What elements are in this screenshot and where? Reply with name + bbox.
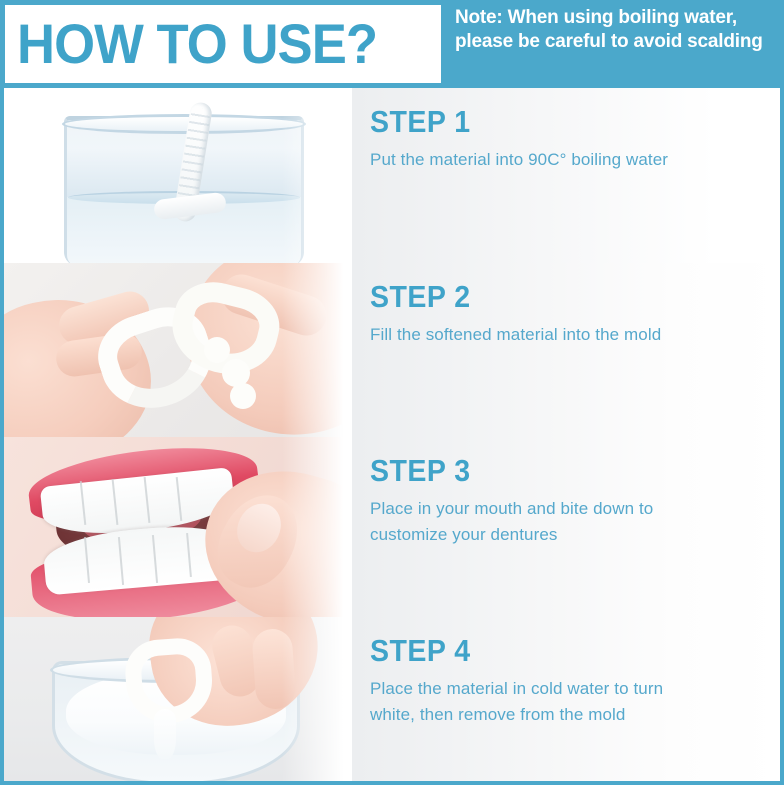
step-row-3: STEP 3 Place in your mouth and bite down… xyxy=(4,437,780,617)
step-row-2: STEP 2 Fill the softened material into t… xyxy=(4,263,780,437)
photo-fade-4 xyxy=(282,617,352,781)
step-1-photo xyxy=(4,88,352,263)
steps-frame: STEP 1 Put the material into 90C° boilin… xyxy=(0,88,784,785)
step-1-text: STEP 1 Put the material into 90C° boilin… xyxy=(352,88,780,263)
step-4-photo xyxy=(4,617,352,781)
step-row-1: STEP 1 Put the material into 90C° boilin… xyxy=(4,88,780,263)
step-3-title: STEP 3 xyxy=(370,455,734,486)
photo-fade-3 xyxy=(282,437,352,617)
photo-fade-2 xyxy=(282,263,352,437)
how-to-use-infographic: HOW TO USE? Note: When using boiling wat… xyxy=(0,0,784,785)
step-2-text: STEP 2 Fill the softened material into t… xyxy=(352,263,780,437)
glass-rim xyxy=(62,114,306,134)
step-4-line-1: Place the material in cold water to turn xyxy=(370,676,766,702)
note-box: Note: When using boiling water, please b… xyxy=(443,0,784,88)
step-1-line-1: Put the material into 90C° boiling water xyxy=(370,147,766,173)
page-title: HOW TO USE? xyxy=(17,16,377,72)
step-4-title: STEP 4 xyxy=(370,635,734,666)
step-3-text: STEP 3 Place in your mouth and bite down… xyxy=(352,437,780,617)
steps-list: STEP 1 Put the material into 90C° boilin… xyxy=(4,88,780,781)
denture-tooth-bump xyxy=(230,383,256,409)
header-banner: HOW TO USE? Note: When using boiling wat… xyxy=(0,0,784,88)
step-4-line-2: white, then remove from the mold xyxy=(370,702,766,728)
step-row-4: STEP 4 Place the material in cold water … xyxy=(4,617,780,781)
title-box: HOW TO USE? xyxy=(3,3,443,85)
step-4-text: STEP 4 Place the material in cold water … xyxy=(352,617,780,781)
step-3-photo xyxy=(4,437,352,617)
step-2-line-1: Fill the softened material into the mold xyxy=(370,322,766,348)
step-3-line-2: customize your dentures xyxy=(370,522,766,548)
note-text: Note: When using boiling water, please b… xyxy=(455,6,774,53)
photo-fade-1 xyxy=(282,88,352,263)
step-2-body: Fill the softened material into the mold xyxy=(370,322,766,348)
step-4-body: Place the material in cold water to turn… xyxy=(370,676,766,729)
denture-strip-drip xyxy=(154,709,176,759)
denture-tooth-bump xyxy=(204,337,230,363)
step-3-line-1: Place in your mouth and bite down to xyxy=(370,496,766,522)
step-2-title: STEP 2 xyxy=(370,281,734,312)
step-1-title: STEP 1 xyxy=(370,106,734,137)
step-3-body: Place in your mouth and bite down to cus… xyxy=(370,496,766,549)
step-1-body: Put the material into 90C° boiling water xyxy=(370,147,766,173)
step-2-photo xyxy=(4,263,352,437)
